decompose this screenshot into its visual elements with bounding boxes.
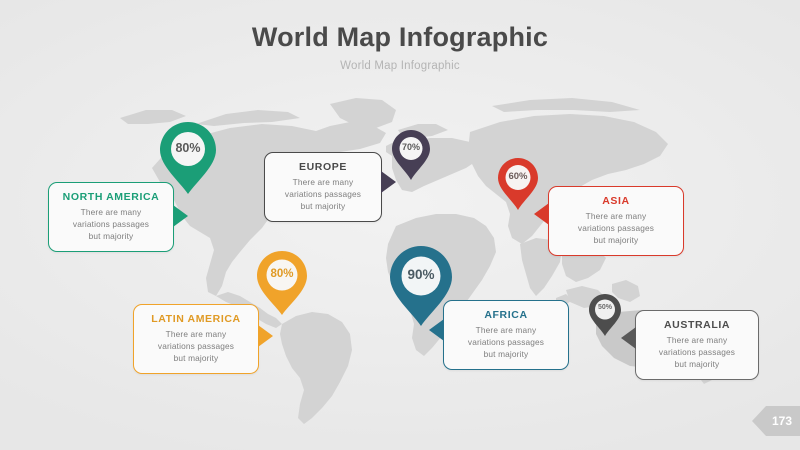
card-title-latin-america: LATIN AMERICA <box>144 313 248 325</box>
card-pointer-asia <box>534 203 549 225</box>
pin-europe[interactable]: 70% <box>392 130 430 180</box>
card-body-australia: There are many variations passages but m… <box>646 335 748 370</box>
card-pointer-north-america <box>173 205 188 227</box>
card-title-asia: ASIA <box>559 195 673 207</box>
card-title-europe: EUROPE <box>275 161 371 173</box>
card-title-africa: AFRICA <box>454 309 558 321</box>
card-latin-america[interactable]: LATIN AMERICA There are many variations … <box>133 304 259 374</box>
card-australia[interactable]: AUSTRALIA There are many variations pass… <box>635 310 759 380</box>
card-asia[interactable]: ASIA There are many variations passages … <box>548 186 684 256</box>
pin-latin-america[interactable]: 80% <box>257 251 307 315</box>
card-title-australia: AUSTRALIA <box>646 319 748 331</box>
card-pointer-europe <box>381 171 396 193</box>
card-body-africa: There are many variations passages but m… <box>454 325 558 360</box>
card-body-latin-america: There are many variations passages but m… <box>144 329 248 364</box>
card-body-europe: There are many variations passages but m… <box>275 177 371 212</box>
pin-asia[interactable]: 60% <box>498 158 538 210</box>
card-north-america[interactable]: NORTH AMERICA There are many variations … <box>48 182 174 252</box>
card-title-north-america: NORTH AMERICA <box>59 191 163 203</box>
card-pointer-australia <box>621 327 636 349</box>
page-number: 173 <box>772 414 792 428</box>
card-pointer-africa <box>429 319 444 341</box>
card-body-asia: There are many variations passages but m… <box>559 211 673 246</box>
card-pointer-latin-america <box>258 325 273 347</box>
card-africa[interactable]: AFRICA There are many variations passage… <box>443 300 569 370</box>
pin-australia[interactable]: 50% <box>589 294 621 336</box>
card-body-north-america: There are many variations passages but m… <box>59 207 163 242</box>
slide-canvas: World Map Infographic World Map Infograp… <box>0 0 800 450</box>
card-europe[interactable]: EUROPE There are many variations passage… <box>264 152 382 222</box>
